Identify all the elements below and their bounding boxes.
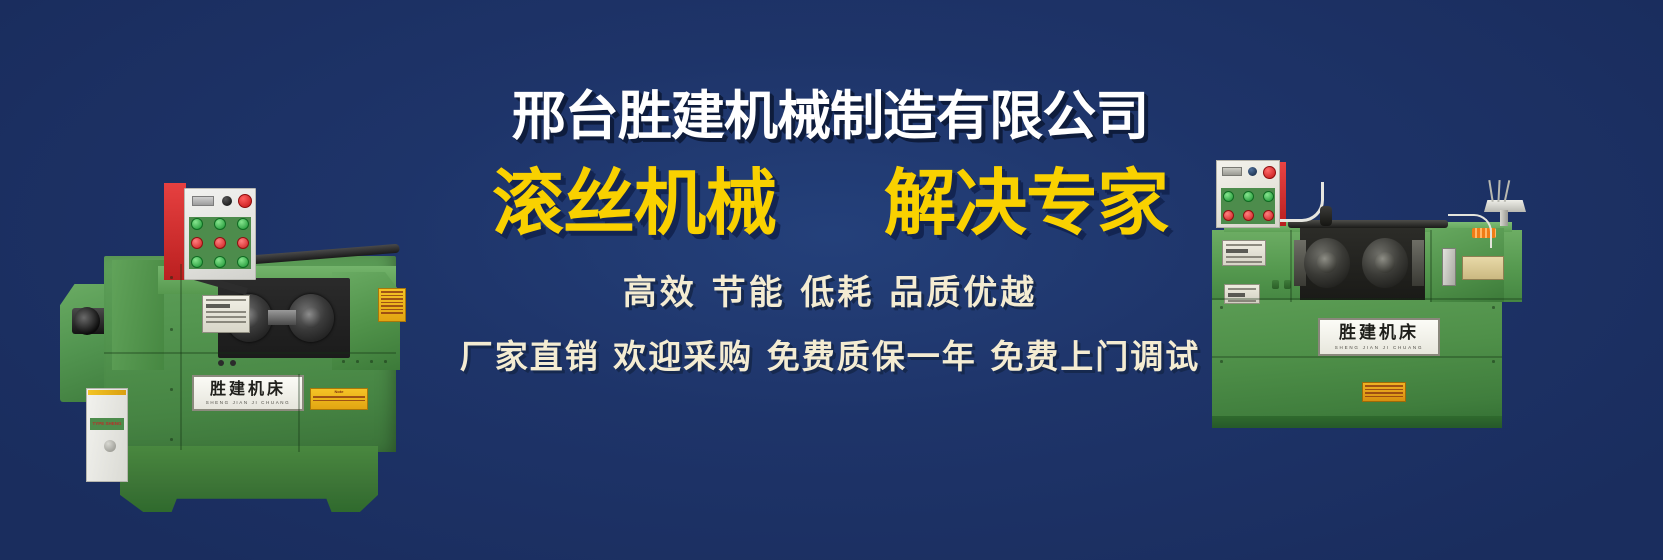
panel-seam [298, 374, 300, 452]
company-name: 邢台胜建机械制造有限公司 [371, 88, 1289, 145]
nameplate-chinese: 胜建机床 [210, 381, 286, 397]
bolt [170, 328, 173, 331]
push-button [214, 218, 226, 230]
panel-seam [1290, 230, 1292, 302]
machine-right-plinth [1212, 416, 1502, 428]
machine-right-warning-label [1362, 382, 1406, 402]
spec-plate-lines [203, 296, 249, 323]
machine-left-spindle [268, 310, 296, 325]
nameplate-chinese: 胜建机床 [1339, 325, 1419, 342]
machine-left-base-plinth [120, 446, 378, 512]
bolt [170, 438, 173, 441]
machine-right-slide-unit [1442, 248, 1456, 286]
machine-left-control-cabinet-side [164, 183, 186, 280]
bolt [342, 360, 345, 363]
machine-right-side-plate [1462, 256, 1504, 280]
bolt [1492, 360, 1495, 363]
nameplate-pinyin: SHENG JIAN JI CHUANG [1335, 345, 1424, 350]
bolt [170, 388, 173, 391]
machine-left-emergency-stop-icon [238, 194, 252, 208]
headline-left: 滚丝机械 [492, 167, 776, 239]
push-button [191, 237, 203, 249]
warning-label-lines [311, 394, 367, 401]
machine-right-wire-guide-c [1504, 180, 1510, 202]
machine-left-cabinet-strip [88, 390, 126, 395]
machine-left-push-button-grid [189, 217, 251, 269]
push-button [237, 256, 249, 268]
machine-left-roller-core-b [301, 307, 321, 328]
bolt [356, 360, 359, 363]
machine-left-brand-nameplate: 胜建机床 SHENG JIAN JI CHUANG [192, 375, 304, 411]
machine-left-selector-knob [222, 196, 232, 206]
machine-left-bearing-hub [74, 307, 100, 335]
warning-label-lines [1363, 383, 1405, 397]
machine-left-side-cabinet [86, 388, 128, 482]
machine-left-counter-display [192, 196, 214, 206]
machine-right-wire-guide-a [1488, 180, 1493, 202]
tagline-services: 厂家直销 欢迎采购 免费质保一年 免费上门调试 [380, 330, 1280, 378]
banner-text-column: 邢台胜建机械制造有限公司 滚丝机械 解决专家 高效 节能 低耗 品质优越 厂家直… [380, 88, 1280, 378]
headline-right: 解决专家 [884, 167, 1168, 239]
machine-right-tray-stem [1500, 210, 1508, 226]
push-button [237, 237, 249, 249]
machine-left-warning-label-note: Note [310, 388, 368, 410]
machine-left-dial-a [218, 360, 224, 366]
push-button [214, 237, 226, 249]
tagline-features: 高效 节能 低耗 品质优越 [380, 265, 1280, 314]
panel-seam [1430, 230, 1432, 302]
machine-right-coolant-tube [1448, 214, 1492, 248]
machine-left-dial-b [230, 360, 236, 366]
push-button [237, 218, 249, 230]
machine-left-valve-handle [104, 440, 116, 452]
bolt [1492, 306, 1495, 309]
machine-right-wire-guide-b [1497, 180, 1500, 202]
panel-seam [104, 352, 396, 354]
machine-right-guide-plate-b [1412, 240, 1424, 286]
push-button [214, 256, 226, 268]
machine-right-top-crossbar [1288, 220, 1448, 228]
machine-right-roller-core-a [1317, 252, 1337, 273]
machine-left-spec-plate [202, 295, 250, 333]
product-image-left-machine: 胜建机床 SHENG JIAN JI CHUANG Note TYPE SHEN… [40, 88, 435, 483]
push-button [191, 218, 203, 230]
push-button [191, 256, 203, 268]
machine-right-cable-boot [1320, 206, 1332, 226]
machine-right-control-cable [1280, 182, 1324, 222]
machine-right-brand-nameplate: 胜建机床 SHENG JIAN JI CHUANG [1318, 318, 1440, 356]
headline-row: 滚丝机械 解决专家 [380, 167, 1280, 239]
panel-seam [180, 264, 182, 450]
promo-banner: 胜建机床 SHENG JIAN JI CHUANG Note TYPE SHEN… [0, 0, 1663, 560]
bolt [370, 360, 373, 363]
bolt [170, 276, 173, 279]
machine-right-roller-core-b [1375, 252, 1395, 273]
machine-left-column [112, 260, 164, 370]
nameplate-pinyin: SHENG JIAN JI CHUANG [206, 400, 291, 405]
machine-left-cabinet-text: TYPE SHENG [90, 418, 124, 430]
